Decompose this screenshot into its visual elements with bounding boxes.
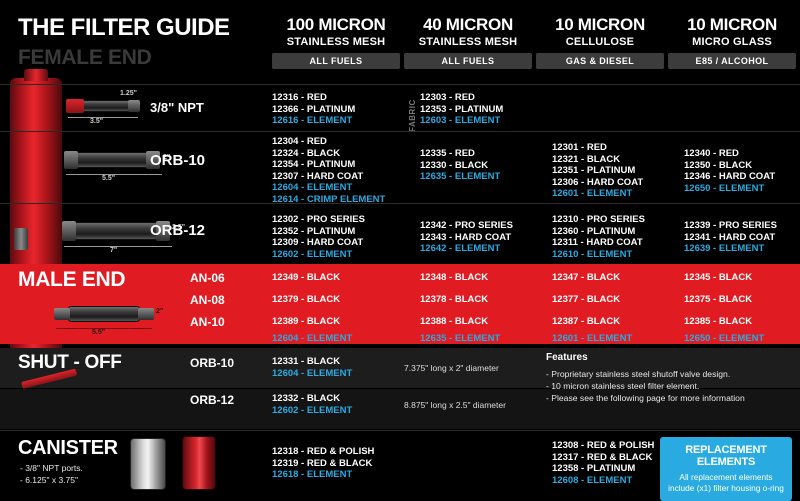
cell-male-c2-an10: 12388 - BLACK (420, 316, 488, 328)
column-header-2: 40 MICRON STAINLESS MESH ALL FUELS (404, 16, 532, 69)
column-fuel-pill: GAS & DIESEL (536, 53, 664, 69)
cell-male-c1-an10: 12389 - BLACK (272, 316, 340, 328)
cell-orb12-c4: 12339 - PRO SERIES 12341 - HARD COAT 126… (684, 220, 777, 255)
cell-shutoff-orb10: 12331 - BLACK 12604 - ELEMENT (272, 356, 352, 379)
column-media: STAINLESS MESH (404, 36, 532, 48)
cell-canister-c1: 12318 - RED & POLISH 12319 - RED & BLACK… (272, 446, 374, 481)
canister-polish-illustration (130, 438, 166, 490)
cell-orb10-c2: 12335 - RED 12330 - BLACK 12635 - ELEMEN… (420, 148, 500, 183)
column-fuel-pill: ALL FUELS (404, 53, 532, 69)
fitting-38npt-illustration: 3.5" 1.25" (62, 92, 162, 122)
cell-male-c3-an10: 12387 - BLACK (552, 316, 620, 328)
dim-diameter: 2" (156, 308, 163, 315)
cell-male-c4-element: 12650 - ELEMENT (684, 333, 764, 345)
cell-male-c4-an10: 12385 - BLACK (684, 316, 752, 328)
cell-male-c2: 12348 - BLACK (420, 272, 488, 284)
cell-orb12-c1: 12302 - PRO SERIES 12352 - PLATINUM 1230… (272, 214, 365, 260)
divider (0, 84, 800, 85)
cell-orb10-c1: 12304 - RED 12324 - BLACK 12354 - PLATIN… (272, 136, 385, 206)
row-label-an08: AN-08 (190, 293, 225, 307)
filter-guide-page: THE FILTER GUIDE FEMALE END 100 MICRON S… (0, 0, 800, 499)
shutoff-spec-orb10: 7.375" long x 2" diameter (404, 362, 499, 374)
column-micron: 40 MICRON (404, 16, 532, 34)
cell-male-c3-an08: 12377 - BLACK (552, 294, 620, 306)
dim-length: 5.5" (102, 175, 115, 182)
cell-male-c4-an08: 12375 - BLACK (684, 294, 752, 306)
column-header-4: 10 MICRON MICRO GLASS E85 / ALCOHOL (668, 16, 796, 69)
title-main: THE FILTER GUIDE (18, 14, 268, 42)
row-label-an06: AN-06 (190, 271, 225, 285)
cell-male-c2-element: 12635 - ELEMENT (420, 333, 500, 345)
column-header-1: 100 MICRON STAINLESS MESH ALL FUELS (272, 16, 400, 69)
cell-38npt-c2: 12303 - RED 12353 - PLATINUM 12603 - ELE… (420, 92, 503, 127)
divider (0, 203, 800, 204)
cell-shutoff-orb12: 12332 - BLACK 12602 - ELEMENT (272, 393, 352, 416)
features-block: Features - Proprietary stainless steel s… (546, 352, 786, 404)
divider (0, 131, 800, 132)
column-header-3: 10 MICRON CELLULOSE GAS & DIESEL (536, 16, 664, 69)
row-label-orb10: ORB-10 (150, 152, 205, 169)
canister-red-illustration (182, 436, 216, 490)
fitting-male-illustration: 5.5" 2" (46, 296, 176, 342)
cell-male-c2-an08: 12378 - BLACK (420, 294, 488, 306)
replacement-body: All replacement elements include (x1) fi… (668, 472, 784, 494)
page-title: THE FILTER GUIDE FEMALE END (18, 14, 268, 70)
column-media: STAINLESS MESH (272, 36, 400, 48)
canister-note-2: - 6.125" x 3.75" (20, 474, 78, 486)
male-end-title: MALE END (18, 268, 125, 292)
column-fuel-pill: E85 / ALCOHOL (668, 53, 796, 69)
column-media: MICRO GLASS (668, 36, 796, 48)
features-title: Features (546, 352, 786, 364)
cell-orb10-c3: 12301 - RED 12321 - BLACK 12351 - PLATIN… (552, 142, 643, 200)
cell-male-c3: 12347 - BLACK (552, 272, 620, 284)
cell-male-c4: 12345 - BLACK (684, 272, 752, 284)
title-subtitle: FEMALE END (18, 46, 268, 70)
cell-orb10-c4: 12340 - RED 12350 - BLACK 12346 - HARD C… (684, 148, 775, 194)
feature-item: - 10 micron stainless steel filter eleme… (546, 380, 786, 392)
canister-note-1: - 3/8" NPT ports. (20, 462, 83, 474)
column-micron: 10 MICRON (668, 16, 796, 34)
dim-diameter: 1.25" (120, 90, 137, 97)
row-label-shutoff-orb10: ORB-10 (190, 356, 234, 370)
row-label-shutoff-orb12: ORB-12 (190, 393, 234, 407)
cell-male-c3-element: 12601 - ELEMENT (552, 333, 632, 345)
row-label-orb12: ORB-12 (150, 222, 205, 239)
row-label-38npt: 3/8" NPT (150, 100, 204, 115)
cell-orb12-c3: 12310 - PRO SERIES 12360 - PLATINUM 1231… (552, 214, 645, 260)
canister-title: CANISTER (18, 437, 118, 460)
row-label-an10: AN-10 (190, 315, 225, 329)
column-micron: 10 MICRON (536, 16, 664, 34)
bottle-fitting (14, 228, 28, 250)
cell-orb12-c2: 12342 - PRO SERIES 12343 - HARD COAT 126… (420, 220, 513, 255)
feature-item: - Proprietary stainless steel shutoff va… (546, 368, 786, 380)
cell-canister-c3: 12308 - RED & POLISH 12317 - RED & BLACK… (552, 440, 654, 486)
fabric-label: FABRIC (408, 99, 417, 132)
shutoff-spec-orb12: 8.875" long x 2.5" diameter (404, 399, 506, 411)
dim-length: 7" (110, 247, 117, 254)
cell-38npt-c1: 12316 - RED 12366 - PLATINUM 12616 - ELE… (272, 92, 355, 127)
replacement-elements-box: REPLACEMENT ELEMENTS All replacement ele… (660, 437, 792, 501)
replacement-title: REPLACEMENT ELEMENTS (668, 444, 784, 468)
dim-length: 3.5" (90, 118, 103, 125)
dim-length: 5.5" (92, 329, 105, 336)
cell-male-c1-element: 12604 - ELEMENT (272, 333, 352, 345)
cell-male-c1: 12349 - BLACK (272, 272, 340, 284)
feature-item: - Please see the following page for more… (546, 392, 786, 404)
column-fuel-pill: ALL FUELS (272, 53, 400, 69)
divider (0, 430, 800, 431)
column-media: CELLULOSE (536, 36, 664, 48)
column-micron: 100 MICRON (272, 16, 400, 34)
cell-male-c1-an08: 12379 - BLACK (272, 294, 340, 306)
